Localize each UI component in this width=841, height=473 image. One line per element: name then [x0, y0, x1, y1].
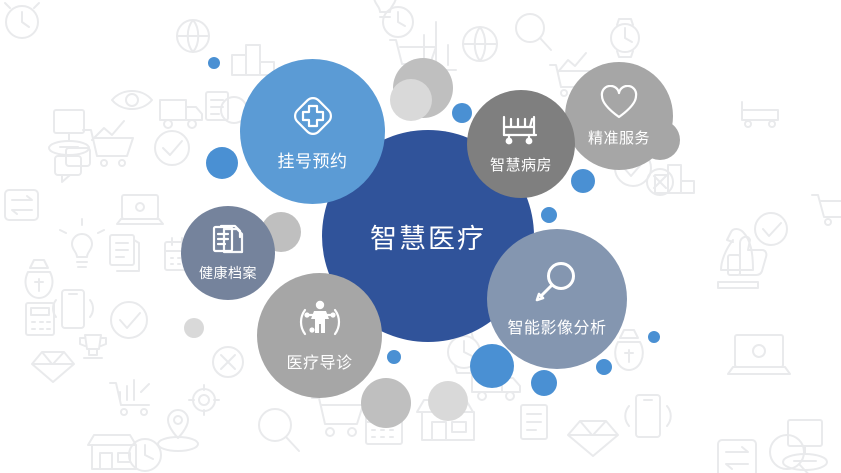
bubble-intelligent-imaging-analysis[interactable]: 智能影像分析: [487, 229, 627, 369]
smartphone-icon: [53, 290, 93, 328]
accent-dot: [208, 57, 220, 69]
bubble-medical-guidance[interactable]: 医疗导诊: [257, 273, 382, 398]
money-bag-icon: [26, 260, 53, 298]
documents-icon: [110, 235, 139, 271]
bubble-label-health-records: 健康档案: [199, 263, 257, 283]
trophy-icon: [80, 335, 106, 358]
check-circle-icon: [111, 302, 147, 338]
documents-icon: [521, 405, 547, 439]
shopping-cart-icon: [312, 398, 363, 436]
accent-dot: [206, 147, 238, 179]
accent-dot: [541, 207, 557, 223]
x-circle-icon: [213, 347, 243, 377]
lightbulb-icon: [60, 219, 104, 267]
bubble-health-records[interactable]: 健康档案: [181, 206, 275, 300]
alarm-clock-icon: [129, 439, 161, 471]
monitor-icon: [783, 420, 827, 470]
documents-icon: [210, 223, 246, 259]
smartphone-icon: [625, 395, 671, 437]
bubble-precise-service[interactable]: 精准服务: [565, 62, 673, 170]
hospital-bed-icon: [499, 113, 543, 149]
accent-dot: [470, 344, 514, 388]
transfer-arrows-icon: [5, 190, 38, 220]
globe-icon: [177, 20, 209, 52]
x-circle-icon: [647, 169, 673, 195]
laptop-icon: [728, 335, 790, 374]
bubble-smart-ward[interactable]: 智慧病房: [467, 90, 575, 198]
accent-dot: [361, 378, 411, 428]
shopping-cart-icon: [812, 195, 841, 225]
podium-icon: [232, 45, 274, 75]
bubble-label-smart-ward: 智慧病房: [490, 154, 552, 175]
hub-label: 智慧医疗: [370, 217, 486, 256]
laptop-icon: [117, 195, 163, 224]
bubble-label-registration: 挂号预约: [278, 147, 348, 172]
accent-dot: [184, 318, 204, 338]
chess-knight-icon: [718, 229, 758, 288]
gear-icon: [189, 385, 219, 415]
diamond-icon: [32, 352, 74, 382]
wristwatch-icon: [611, 19, 639, 57]
accent-dot: [571, 169, 595, 193]
magnifier-icon: [534, 260, 580, 306]
alarm-clock-icon: [5, 3, 39, 38]
bubble-label-guidance: 医疗导诊: [286, 349, 352, 373]
bar-chart-icon: [110, 380, 149, 415]
accent-dot: [648, 331, 660, 343]
accent-dot: [387, 350, 401, 364]
medical-cross-diamond-icon: [289, 92, 337, 140]
transfer-arrows-icon: [718, 440, 756, 473]
documents-icon: [206, 92, 228, 120]
accent-dot: [596, 359, 612, 375]
magnifier-icon: [516, 14, 551, 50]
globe-icon: [463, 27, 497, 61]
heart-icon: [599, 85, 639, 121]
bubble-registration-appointment[interactable]: 挂号预约: [240, 59, 385, 204]
hospital-bed-icon: [742, 102, 778, 127]
check-circle-icon: [155, 131, 189, 165]
diamond-icon: [568, 421, 618, 456]
location-pin-icon: [158, 410, 198, 451]
guide-person-icon: [298, 298, 342, 342]
bubble-label-precise-service: 精准服务: [588, 127, 650, 148]
money-bag-icon: [615, 330, 643, 370]
truck-icon: [160, 100, 202, 128]
accent-dot: [452, 103, 472, 123]
infographic-canvas: 智慧医疗 挂号预约 智慧病房 精准服务: [0, 0, 841, 473]
calculator-icon: [26, 303, 54, 335]
bubble-label-imaging: 智能影像分析: [507, 314, 606, 338]
check-circle-icon: [755, 213, 787, 245]
eye-icon: [112, 91, 152, 109]
magnifier-icon: [259, 409, 299, 451]
accent-dot: [390, 79, 432, 121]
accent-dot: [531, 370, 557, 396]
accent-dot: [428, 381, 468, 421]
